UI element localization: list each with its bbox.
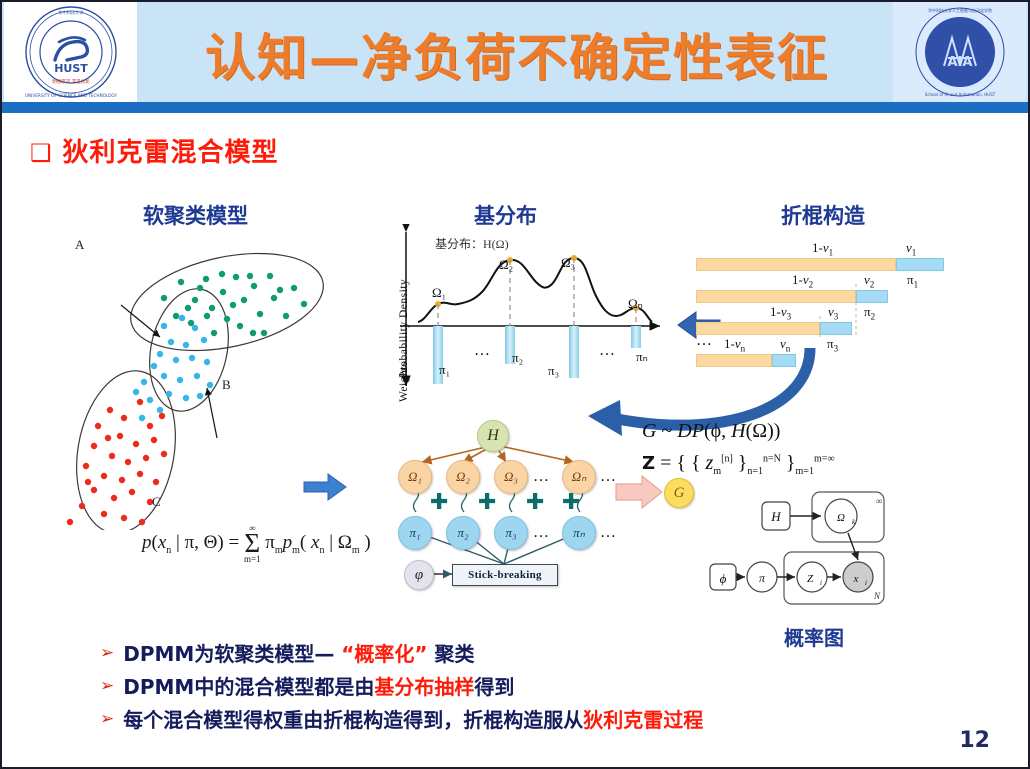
omega-row-ellipsis-1: … [533,468,551,486]
svg-text:Ω: Ω [837,512,845,524]
column-title-stick-breaking: 折棍构造 [781,200,865,230]
stick-broken-2 [856,290,888,303]
plus-sign-4: ✚ [562,490,580,515]
bullet-text-1: DPMM为软聚类模型— “概率化” 聚类 [123,642,474,667]
plus-sign-3: ✚ [526,490,544,515]
stick-broken-n [772,354,796,367]
stick-pi-label-2: π2 [864,304,875,322]
stick-breaking-box: Stick-breaking [452,564,558,586]
plus-sign-1: ✚ [430,490,448,515]
hust-university-logo: HUST 明德厚学 求是创新 华中科技大学 UNIVERSITY OF SCIE… [4,2,137,102]
stick-right-label-n: vn [780,336,790,354]
svg-text:π: π [759,571,766,585]
stick-left-label-n: 1-vn [724,336,745,354]
svg-text:x: x [853,573,859,585]
weight-label-2: π₂ [512,350,523,366]
page-number: 12 [959,728,990,753]
svg-text:华中科技大学: 华中科技大学 [58,9,83,16]
bullet-list: ➢ DPMM为软聚类模型— “概率化” 聚类 ➢ DPMM中的混合模型都是由基分… [100,642,980,741]
svg-text:H: H [770,509,781,524]
omega-label-3: Ω₃ [561,255,575,271]
stick-row-3 [696,322,996,335]
svg-text:AIA: AIA [947,55,972,70]
svg-text:ϕ: ϕ [720,571,727,586]
bullet-text-3: 每个混合模型得权重由折棍构造得到，折棍构造服从狄利克雷过程 [123,708,703,733]
stick-broken-3 [820,322,852,335]
mixture-model-formula: p(xn | π, Θ) = ∞ Σ m=1 πmpm( xn | Ωm ) [142,524,371,564]
stick-pi-label-3: π3 [827,336,838,354]
dp-formula: G ~ DP(ϕ, H(Ω)) [642,420,780,443]
chart-ellipsis-1: … [474,342,492,360]
cluster-label-a: A [75,237,84,253]
node-omega-3: Ω₃ [494,460,528,494]
svg-text:Z: Z [807,573,814,585]
column-title-soft-cluster: 软聚类模型 [143,200,248,230]
svg-text:∞: ∞ [876,496,882,506]
probabilistic-graphical-model: ∞ N H Ω k ϕ π Z i x i [708,488,928,618]
node-h: H [477,420,509,452]
plate-svg: ∞ N H Ω k ϕ π Z i x i [708,488,928,620]
svg-text:UNIVERSITY OF SCIENCE AND TECH: UNIVERSITY OF SCIENCE AND TECHNOLOGY [24,93,116,98]
node-omega-1: Ω₁ [398,460,432,494]
aia-logo-svg: AIA 华中科技大学人工智能与自动化学院 School of AI and Au… [908,4,1012,100]
node-pi-3: π₃ [494,516,528,550]
stick-right-label-2: v2 [864,272,874,290]
node-omega-2: Ω₂ [446,460,480,494]
summation-symbol: ∞ Σ m=1 [244,524,261,564]
svg-text:N: N [873,591,881,601]
header-divider [2,102,1028,113]
node-omega-n: Ωₙ [562,460,596,494]
stick-row-1 [696,258,996,271]
slide: HUST 明德厚学 求是创新 华中科技大学 UNIVERSITY OF SCIE… [0,0,1030,769]
svg-text:华中科技大学人工智能与自动化学院: 华中科技大学人工智能与自动化学院 [928,7,992,13]
bullet-item-1: ➢ DPMM为软聚类模型— “概率化” 聚类 [100,642,980,667]
stick-left-label-1: 1-v1 [812,240,833,258]
svg-text:School of AI and Automation, H: School of AI and Automation, HUST [924,92,995,97]
stick-ellipsis: … [696,332,714,350]
hust-logo-svg: HUST 明德厚学 求是创新 华中科技大学 UNIVERSITY OF SCIE… [15,4,127,100]
square-bullet-icon: ❑ [30,139,53,167]
stick-right-label-3: v3 [828,304,838,322]
section-heading: ❑狄利克雷混合模型 [30,132,279,169]
blue-arrow-right-1 [302,472,348,507]
stick-broken-1 [896,258,944,271]
stick-remaining-1 [696,258,896,271]
omega-label-n: Ωₙ [628,296,643,312]
stick-breaking-diagram: 1-v1 v1 π1 1-v2 v2 π2 1-v3 v3 π3 1-vn vn… [696,240,1026,380]
sum-lower-limit: m=1 [244,555,261,564]
omega-label-1: Ω₁ [432,285,446,301]
stick-remaining-n [696,354,772,367]
arrow-bullet-icon: ➢ [100,708,114,732]
svg-text:i: i [820,579,822,587]
bullet-item-2: ➢ DPMM中的混合模型都是由基分布抽样得到 [100,675,980,700]
stick-left-label-3: 1-v3 [770,304,791,322]
bullet-item-3: ➢ 每个混合模型得权重由折棍构造得到，折棍构造服从狄利克雷过程 [100,708,980,733]
aia-school-logo: AIA 华中科技大学人工智能与自动化学院 School of AI and Au… [893,2,1026,102]
stick-pi-label-1: π1 [907,272,918,290]
arrow-bullet-icon: ➢ [100,675,114,699]
stick-remaining-3 [696,322,820,335]
base-distribution-annotation: 基分布：H(Ω) [435,235,509,252]
stick-left-label-2: 1-v2 [792,272,813,290]
svg-text:明德厚学 求是创新: 明德厚学 求是创新 [52,78,90,85]
pi-row-ellipsis-1: … [533,524,551,542]
page-title: 认知—净负荷不确定性表征 [152,18,882,90]
chart-ylabel-weights: Weights [398,361,410,402]
node-g: G [664,478,694,508]
svg-text:i: i [865,579,867,587]
plus-sign-2: ✚ [478,490,496,515]
stick-right-label-1: v1 [906,240,916,258]
node-pi-2: π₂ [446,516,480,550]
arrow-bullet-icon: ➢ [100,642,114,666]
node-pi-n: πₙ [562,516,596,550]
svg-text:HUST: HUST [54,62,88,75]
stick-row-n [696,354,996,367]
stick-remaining-2 [696,290,856,303]
cluster-label-b: B [222,377,231,393]
omega-row-ellipsis-2: … [600,468,618,486]
stick-row-2 [696,290,996,303]
bullet-text-2: DPMM中的混合模型都是由基分布抽样得到 [123,675,514,700]
omega-label-2: Ω₂ [499,257,513,273]
section-heading-text: 狄利克雷混合模型 [63,138,279,168]
node-pi-1: π₁ [398,516,432,550]
weight-label-1: π₁ [439,362,450,378]
z-formula: Z = { { zm[n] }n=1n=N }m=1m=∞ [642,452,835,477]
node-phi: φ [404,560,434,590]
pi-row-ellipsis-2: … [600,524,618,542]
cluster-label-c: C [152,494,161,510]
